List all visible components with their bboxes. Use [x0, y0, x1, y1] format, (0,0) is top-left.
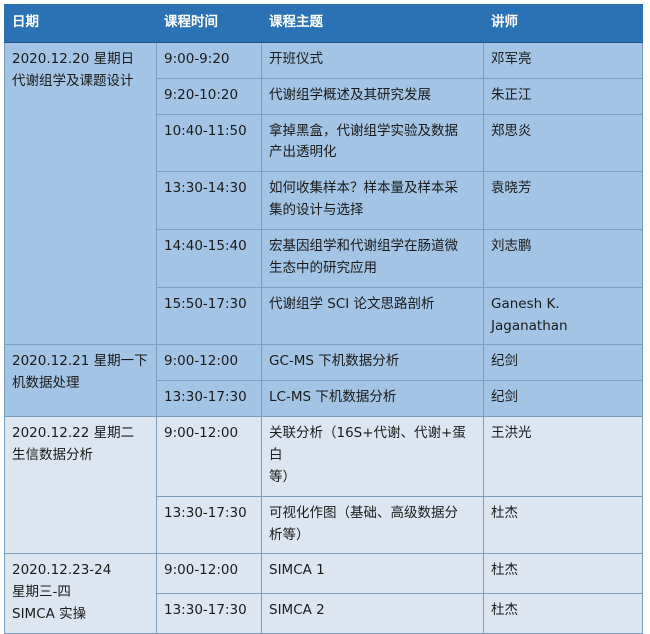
topic-line: SIMCA 2 [269, 600, 476, 622]
cell-topic: 可视化作图（基础、高级数据分析等） [262, 496, 484, 554]
column-header-date: 日期 [5, 5, 157, 43]
cell-teacher: 刘志鹏 [484, 230, 643, 288]
cell-teacher: 杜杰 [484, 496, 643, 554]
cell-teacher: 杜杰 [484, 554, 643, 594]
cell-topic: SIMCA 2 [262, 594, 484, 634]
cell-time: 9:20-10:20 [157, 78, 262, 114]
topic-line: 代谢组学概述及其研究发展 [269, 85, 476, 107]
cell-topic: 如何收集样本？样本量及样本采集的设计与选择 [262, 172, 484, 230]
date-line: 星期三-四 [12, 582, 149, 604]
topic-line: 集的设计与选择 [269, 200, 476, 222]
cell-topic: 开班仪式 [262, 42, 484, 78]
cell-topic: 拿掉黑盒，代谢组学实验及数据产出透明化 [262, 114, 484, 172]
cell-time: 9:00-12:00 [157, 554, 262, 594]
table-header-row: 日期 课程时间 课程主题 讲师 [5, 5, 643, 43]
cell-teacher: 杜杰 [484, 594, 643, 634]
topic-line: 等） [269, 467, 476, 489]
cell-teacher: 王洪光 [484, 417, 643, 497]
cell-date: 2020.12.21 星期一下机数据处理 [5, 345, 157, 417]
date-line: 2020.12.21 星期一下 [12, 351, 149, 373]
cell-topic: 代谢组学概述及其研究发展 [262, 78, 484, 114]
course-schedule-table: 日期 课程时间 课程主题 讲师 2020.12.20 星期日代谢组学及课题设计9… [4, 4, 643, 634]
table-row: 2020.12.23-24星期三-四SIMCA 实操9:00-12:00SIMC… [5, 554, 643, 594]
table-row: 2020.12.22 星期二生信数据分析9:00-12:00关联分析（16S+代… [5, 417, 643, 497]
topic-line: 生态中的研究应用 [269, 258, 476, 280]
cell-teacher: 郑思炎 [484, 114, 643, 172]
date-line: 2020.12.22 星期二 [12, 423, 149, 445]
column-header-time: 课程时间 [157, 5, 262, 43]
topic-line: 析等） [269, 525, 476, 547]
cell-topic: LC-MS 下机数据分析 [262, 381, 484, 417]
cell-topic: GC-MS 下机数据分析 [262, 345, 484, 381]
topic-line: 开班仪式 [269, 49, 476, 71]
cell-time: 13:30-17:30 [157, 594, 262, 634]
topic-line: 关联分析（16S+代谢、代谢+蛋白 [269, 423, 476, 467]
cell-time: 13:30-17:30 [157, 496, 262, 554]
topic-line: 代谢组学 SCI 论文思路剖析 [269, 294, 476, 316]
table-header: 日期 课程时间 课程主题 讲师 [5, 5, 643, 43]
topic-line: SIMCA 1 [269, 560, 476, 582]
date-line: 2020.12.23-24 [12, 560, 149, 582]
topic-line: 如何收集样本？样本量及样本采 [269, 178, 476, 200]
date-line: 代谢组学及课题设计 [12, 71, 149, 93]
table-row: 2020.12.20 星期日代谢组学及课题设计9:00-9:20开班仪式邓军亮 [5, 42, 643, 78]
cell-time: 9:00-9:20 [157, 42, 262, 78]
cell-teacher: Ganesh K. Jaganathan [484, 287, 643, 345]
date-line: 生信数据分析 [12, 445, 149, 467]
cell-time: 14:40-15:40 [157, 230, 262, 288]
topic-line: 拿掉黑盒，代谢组学实验及数据 [269, 121, 476, 143]
table-body: 2020.12.20 星期日代谢组学及课题设计9:00-9:20开班仪式邓军亮9… [5, 42, 643, 633]
cell-topic: SIMCA 1 [262, 554, 484, 594]
cell-topic: 代谢组学 SCI 论文思路剖析 [262, 287, 484, 345]
cell-time: 13:30-14:30 [157, 172, 262, 230]
cell-teacher: 朱正江 [484, 78, 643, 114]
topic-line: 产出透明化 [269, 142, 476, 164]
cell-teacher: 邓军亮 [484, 42, 643, 78]
cell-teacher: 袁晓芳 [484, 172, 643, 230]
topic-line: 宏基因组学和代谢组学在肠道微 [269, 236, 476, 258]
cell-time: 15:50-17:30 [157, 287, 262, 345]
cell-teacher: 纪剑 [484, 345, 643, 381]
column-header-teacher: 讲师 [484, 5, 643, 43]
table-row: 2020.12.21 星期一下机数据处理9:00-12:00GC-MS 下机数据… [5, 345, 643, 381]
date-line: 2020.12.20 星期日 [12, 49, 149, 71]
cell-date: 2020.12.20 星期日代谢组学及课题设计 [5, 42, 157, 345]
cell-topic: 宏基因组学和代谢组学在肠道微生态中的研究应用 [262, 230, 484, 288]
cell-date: 2020.12.22 星期二生信数据分析 [5, 417, 157, 554]
date-line: 机数据处理 [12, 373, 149, 395]
cell-time: 9:00-12:00 [157, 345, 262, 381]
cell-date: 2020.12.23-24星期三-四SIMCA 实操 [5, 554, 157, 634]
date-line: SIMCA 实操 [12, 604, 149, 626]
cell-topic: 关联分析（16S+代谢、代谢+蛋白等） [262, 417, 484, 497]
cell-teacher: 纪剑 [484, 381, 643, 417]
topic-line: GC-MS 下机数据分析 [269, 351, 476, 373]
cell-time: 13:30-17:30 [157, 381, 262, 417]
topic-line: LC-MS 下机数据分析 [269, 387, 476, 409]
cell-time: 10:40-11:50 [157, 114, 262, 172]
topic-line: 可视化作图（基础、高级数据分 [269, 503, 476, 525]
cell-time: 9:00-12:00 [157, 417, 262, 497]
column-header-topic: 课程主题 [262, 5, 484, 43]
